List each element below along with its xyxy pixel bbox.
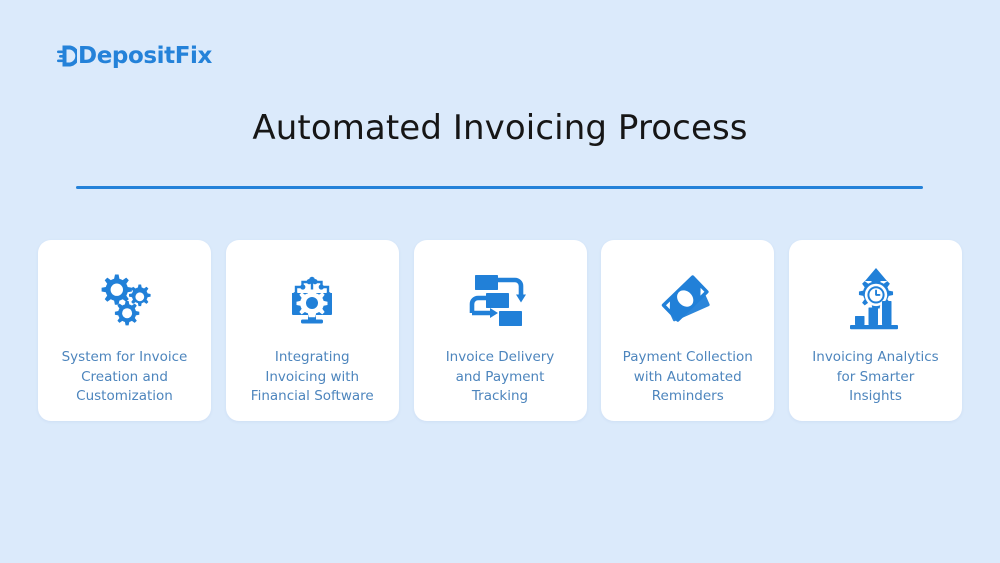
card-label: Payment Collection with Automated Remind… bbox=[615, 348, 761, 407]
banknotes-icon bbox=[653, 260, 723, 340]
card-system-for-invoice-creation[interactable]: System for Invoice Creation and Customiz… bbox=[38, 240, 211, 421]
card-label-line-1: Payment Collection bbox=[623, 349, 753, 365]
process-step-cards: System for Invoice Creation and Customiz… bbox=[38, 240, 962, 421]
card-label-line-2: for Smarter bbox=[837, 369, 915, 385]
card-label-line-1: Invoice Delivery bbox=[446, 349, 555, 365]
card-invoicing-analytics-insights[interactable]: Invoicing Analytics for Smarter Insights bbox=[789, 240, 962, 421]
card-label-line-3: Financial Software bbox=[251, 388, 374, 404]
card-integrating-invoicing-software[interactable]: Integrating Invoicing with Financial Sof… bbox=[226, 240, 399, 421]
card-label-line-2: and Payment bbox=[456, 369, 545, 385]
brand-logo: DepositFix bbox=[57, 41, 212, 71]
card-label: Invoice Delivery and Payment Tracking bbox=[438, 348, 563, 407]
bar-chart-gear-clock-icon bbox=[843, 260, 909, 340]
monitor-gear-network-icon bbox=[279, 260, 345, 340]
brand-name: DepositFix bbox=[78, 45, 212, 68]
page-title: Automated Invoicing Process bbox=[0, 108, 1000, 148]
card-label-line-2: Invoicing with bbox=[265, 369, 359, 385]
card-label-line-1: Integrating bbox=[275, 349, 350, 365]
card-label-line-3: Tracking bbox=[472, 388, 528, 404]
gears-icon bbox=[92, 260, 158, 340]
card-label-line-3: Customization bbox=[76, 388, 173, 404]
card-payment-collection-reminders[interactable]: Payment Collection with Automated Remind… bbox=[601, 240, 774, 421]
card-label: Invoicing Analytics for Smarter Insights bbox=[804, 348, 946, 407]
card-label: Integrating Invoicing with Financial Sof… bbox=[243, 348, 382, 407]
slide-canvas: DepositFix Automated Invoicing Process bbox=[0, 0, 1000, 563]
depositfix-logo-icon bbox=[57, 43, 77, 69]
card-label-line-1: System for Invoice bbox=[62, 349, 188, 365]
card-label-line-3: Reminders bbox=[652, 388, 724, 404]
card-label: System for Invoice Creation and Customiz… bbox=[54, 348, 196, 407]
card-label-line-1: Invoicing Analytics bbox=[812, 349, 938, 365]
flowchart-icon bbox=[467, 260, 533, 340]
card-label-line-2: with Automated bbox=[634, 369, 742, 385]
card-label-line-2: Creation and bbox=[81, 369, 168, 385]
title-divider bbox=[76, 186, 923, 189]
card-label-line-3: Insights bbox=[849, 388, 902, 404]
card-invoice-delivery-tracking[interactable]: Invoice Delivery and Payment Tracking bbox=[414, 240, 587, 421]
